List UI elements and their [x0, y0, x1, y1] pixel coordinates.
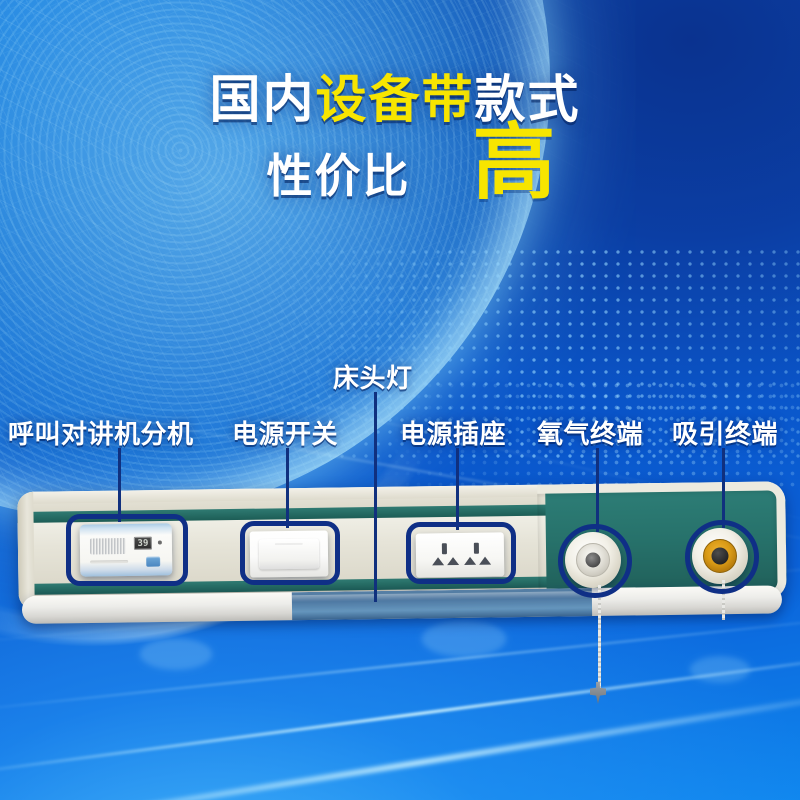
leader-line-bedside-lamp: [374, 392, 377, 602]
callout-label-bedside-lamp: 床头灯: [333, 358, 413, 395]
leader-line-power-switch: [286, 448, 289, 528]
leader-line-power-socket: [456, 448, 459, 530]
callout-label-suction: 吸引终端: [672, 414, 778, 451]
callout-label-power-switch: 电源开关: [232, 414, 338, 451]
leader-line-intercom: [118, 448, 121, 522]
leader-line-suction: [722, 448, 725, 528]
leader-line-oxygen: [596, 448, 599, 532]
callout-label-oxygen: 氧气终端: [537, 414, 643, 451]
callout-label-intercom: 呼叫对讲机分机: [8, 414, 194, 451]
callout-label-power-socket: 电源插座: [400, 414, 506, 451]
callout-layer: 呼叫对讲机分机 电源开关 床头灯 电源插座 氧气终端 吸引终端: [0, 0, 800, 800]
